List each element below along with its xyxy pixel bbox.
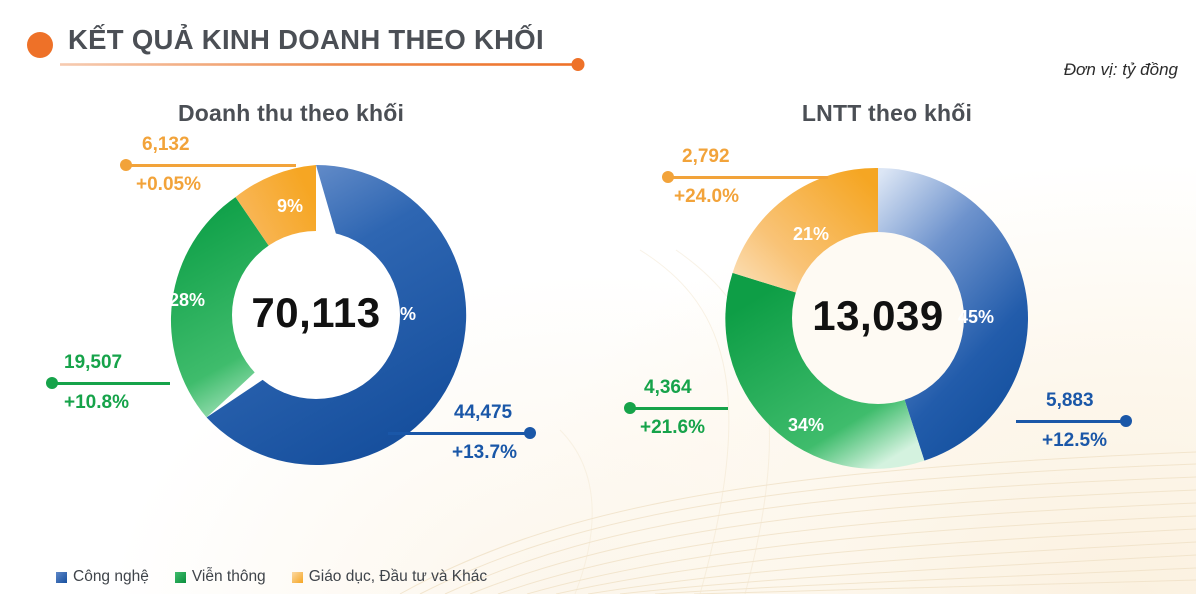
legend-swatch-icon bbox=[56, 572, 67, 583]
callout-value: 44,475 bbox=[454, 402, 512, 424]
legend-swatch-icon bbox=[175, 572, 186, 583]
callout-leader-line bbox=[388, 432, 530, 435]
callout-dot bbox=[662, 171, 674, 183]
callout-value: 2,792 bbox=[682, 146, 730, 168]
callout-growth: +21.6% bbox=[640, 417, 705, 439]
header-bullet-icon bbox=[27, 32, 53, 58]
callout-leader-line bbox=[1016, 420, 1126, 423]
callout-dot bbox=[120, 159, 132, 171]
callout-growth: +10.8% bbox=[64, 392, 129, 414]
slice-percent-vien-thong: 34% bbox=[788, 415, 824, 436]
chart-panel-revenue: Doanh thu theo khối bbox=[0, 92, 598, 594]
legend-item-vien-thong[interactable]: Viễn thông bbox=[175, 568, 266, 586]
infographic-root: KẾT QUẢ KINH DOANH THEO KHỐI Đơn vị: tỷ … bbox=[0, 0, 1196, 594]
callout-value: 19,507 bbox=[64, 352, 122, 374]
callout-dot bbox=[524, 427, 536, 439]
callout-leader-line bbox=[668, 176, 828, 179]
callout-leader-line bbox=[52, 382, 170, 385]
legend-item-cong-nghe[interactable]: Công nghệ bbox=[56, 568, 149, 586]
header: KẾT QUẢ KINH DOANH THEO KHỐI Đơn vị: tỷ … bbox=[0, 0, 1196, 92]
chart-title-revenue: Doanh thu theo khối bbox=[0, 100, 590, 127]
callout-growth: +12.5% bbox=[1042, 430, 1107, 452]
slice-percent-giao-duc: 9% bbox=[277, 196, 303, 217]
callout-dot bbox=[46, 377, 58, 389]
donut-chart-pbt: 13,039 45% 34% 21% bbox=[710, 150, 1046, 486]
callout-growth: +24.0% bbox=[674, 186, 739, 208]
callout-value: 6,132 bbox=[142, 134, 190, 156]
callout-growth: +0.05% bbox=[136, 174, 201, 196]
donut-center-value-pbt: 13,039 bbox=[710, 292, 1046, 340]
unit-label: Đơn vị: tỷ đồng bbox=[1064, 60, 1178, 80]
slice-percent-cong-nghe: 45% bbox=[958, 307, 994, 328]
legend-label: Giáo dục, Đầu tư và Khác bbox=[309, 568, 487, 586]
callout-dot bbox=[1120, 415, 1132, 427]
callout-leader-line bbox=[630, 407, 728, 410]
slice-percent-giao-duc: 21% bbox=[793, 224, 829, 245]
callout-dot bbox=[624, 402, 636, 414]
page-title: KẾT QUẢ KINH DOANH THEO KHỐI bbox=[68, 24, 544, 56]
callout-growth: +13.7% bbox=[452, 442, 517, 464]
chart-title-pbt: LNTT theo khối bbox=[588, 100, 1186, 127]
slice-percent-vien-thong: 28% bbox=[169, 290, 205, 311]
legend-label: Viễn thông bbox=[192, 568, 266, 586]
slice-percent-cong-nghe: 63% bbox=[380, 304, 416, 325]
legend-label: Công nghệ bbox=[73, 568, 149, 586]
callout-value: 4,364 bbox=[644, 377, 692, 399]
legend-revenue: Công nghệ Viễn thông Giáo dục, Đầu tư và… bbox=[56, 568, 513, 586]
header-underline-rule bbox=[60, 58, 588, 72]
callout-leader-line bbox=[126, 164, 296, 167]
legend-swatch-icon bbox=[292, 572, 303, 583]
legend-item-giao-duc[interactable]: Giáo dục, Đầu tư và Khác bbox=[292, 568, 487, 586]
chart-panel-pbt: LNTT theo khối bbox=[598, 92, 1196, 594]
callout-value: 5,883 bbox=[1046, 390, 1094, 412]
